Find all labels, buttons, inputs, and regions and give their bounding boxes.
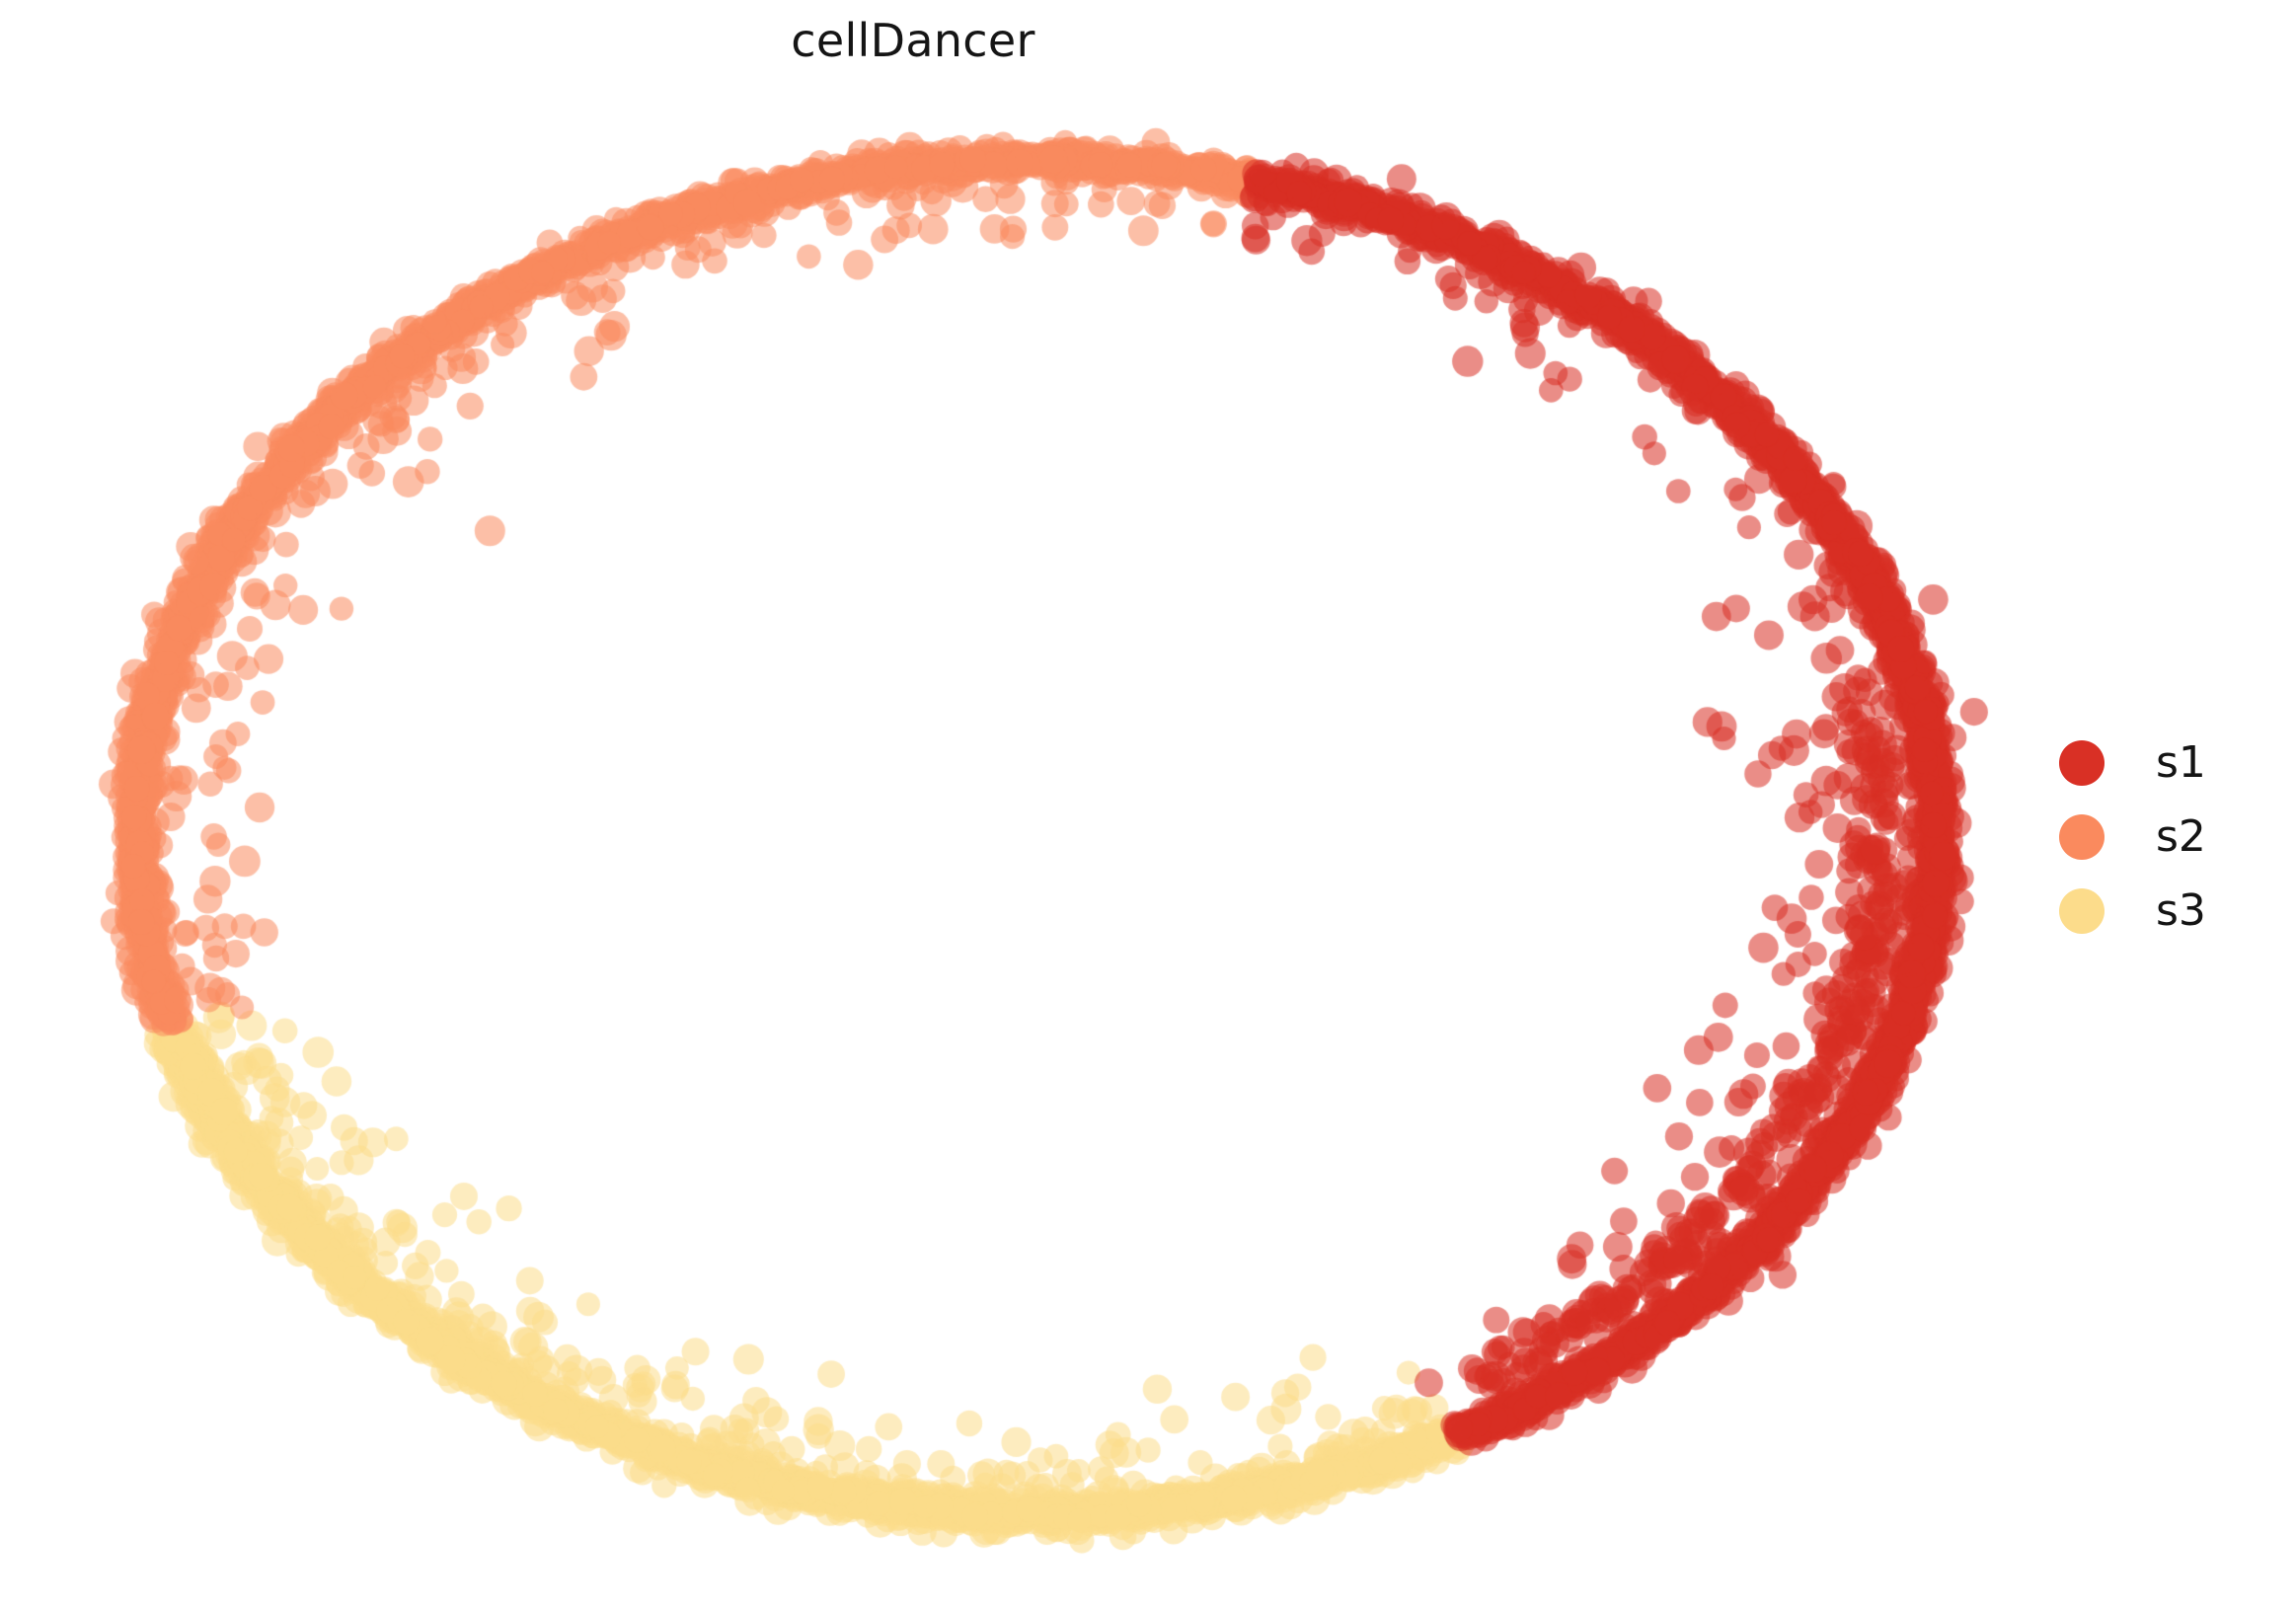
legend-label-s3: s3 [2156, 889, 2206, 933]
figure-root: cellDancer s1 s2 s3 [0, 0, 2296, 1612]
legend-label-s1: s1 [2156, 741, 2206, 785]
legend-marker-icon-s1 [2059, 740, 2105, 786]
scatter-plot-canvas [0, 0, 2296, 1612]
legend-item-s3[interactable]: s3 [2059, 874, 2276, 948]
legend-marker-icon-s3 [2059, 888, 2105, 934]
legend-item-s1[interactable]: s1 [2059, 726, 2276, 800]
legend-item-s2[interactable]: s2 [2059, 800, 2276, 874]
legend-label-s2: s2 [2156, 815, 2206, 859]
legend: s1 s2 s3 [2059, 726, 2276, 948]
legend-marker-icon-s2 [2059, 814, 2105, 860]
